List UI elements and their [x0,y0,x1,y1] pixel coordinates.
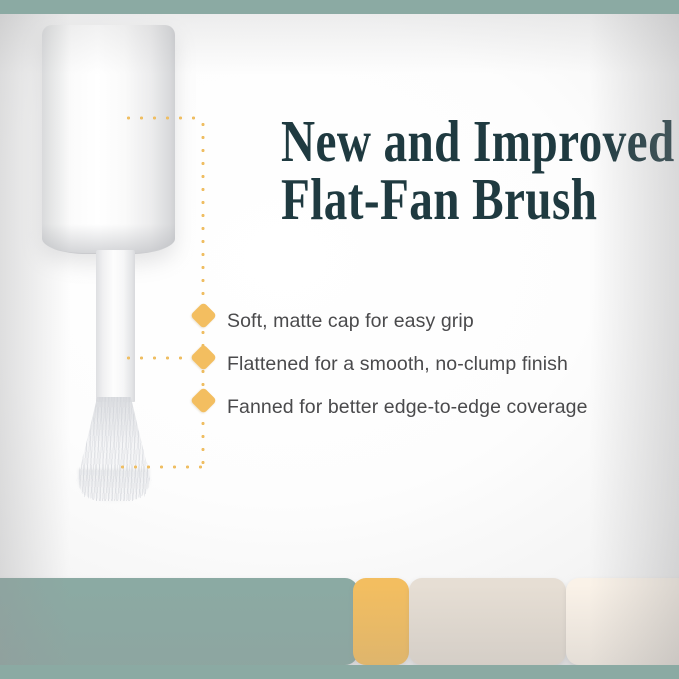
headline: New and Improved Flat-Fan Brush [281,112,585,228]
connector-branch-cap [122,116,204,120]
swatch-sage [0,578,358,665]
brush-stem [96,250,135,402]
connector-vertical-dotted-line [201,118,205,468]
bottom-brand-band [0,665,679,679]
product-feature-ad: New and Improved Flat-Fan Brush Soft, ma… [0,0,679,679]
feature-item-1: Soft, matte cap for easy grip [227,300,657,343]
brush-cap [42,25,175,253]
swatch-cream [566,578,679,665]
swatch-beige [409,578,566,665]
color-swatch-bar [0,578,679,665]
product-image-brush [0,14,230,514]
brand-logo: duri [668,578,679,665]
top-brand-band [0,0,679,14]
headline-line-1: New and Improved [281,112,585,170]
feature-item-3: Fanned for better edge-to-edge coverage [227,386,657,429]
connector-branch-bristles [116,465,204,469]
headline-line-2: Flat-Fan Brush [281,170,585,228]
feature-list: Soft, matte cap for easy grip Flattened … [227,300,657,429]
feature-item-2: Flattened for a smooth, no-clump finish [227,343,657,386]
swatch-amber [353,578,409,665]
